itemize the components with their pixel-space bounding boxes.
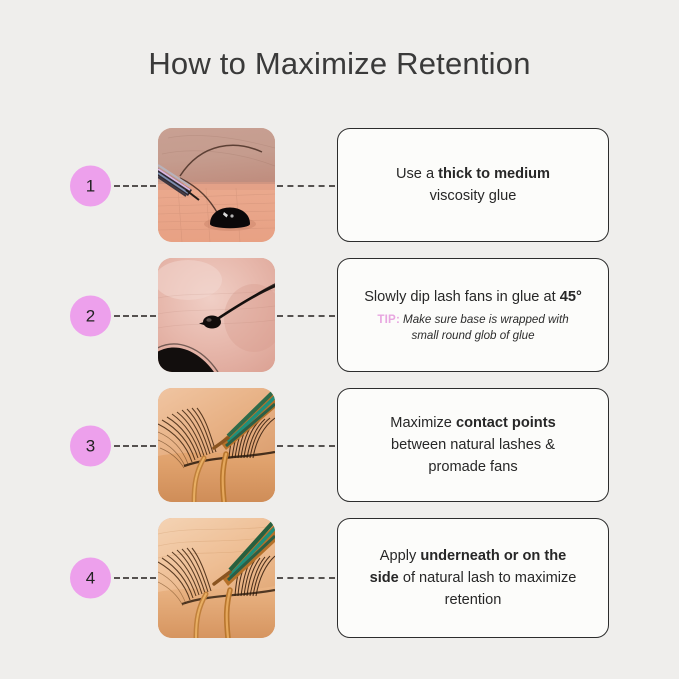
steps-list: 1 bbox=[0, 0, 679, 679]
card-text-plain: Use a bbox=[396, 166, 438, 182]
card-line: promade fans bbox=[428, 456, 517, 478]
card-text-bold: 45° bbox=[560, 289, 582, 305]
card-line: Use a thick to medium bbox=[396, 163, 550, 185]
card-text-plain: Maximize bbox=[390, 415, 456, 431]
step-photo bbox=[158, 388, 275, 502]
step-text-card: Use a thick to medium viscosity glue bbox=[337, 128, 609, 242]
step-photo bbox=[158, 518, 275, 638]
step-row: 4 bbox=[0, 518, 679, 638]
card-text-plain: viscosity glue bbox=[430, 188, 517, 204]
step-row: 2 bbox=[0, 258, 679, 373]
step-number-badge: 3 bbox=[70, 425, 111, 466]
lash-apply-underneath-photo-icon bbox=[158, 518, 275, 638]
lash-glue-drop-photo-icon bbox=[158, 128, 275, 242]
step-number-label: 4 bbox=[86, 570, 95, 587]
card-text-bold: contact points bbox=[456, 415, 556, 431]
connector-badge-to-photo bbox=[114, 577, 156, 579]
step-row: 3 bbox=[0, 388, 679, 503]
card-text-bold: underneath or on the bbox=[420, 548, 566, 564]
connector-badge-to-photo bbox=[114, 445, 156, 447]
connector-badge-to-photo bbox=[114, 315, 156, 317]
step-number-label: 2 bbox=[86, 307, 95, 324]
step-text-card: Apply underneath or on the side of natur… bbox=[337, 518, 609, 638]
card-text-bold: thick to medium bbox=[438, 166, 550, 182]
card-line: viscosity glue bbox=[430, 185, 517, 207]
tip-line: TIP:Make sure base is wrapped with bbox=[377, 312, 568, 328]
connector-photo-to-card bbox=[277, 445, 335, 447]
lash-fan-glue-dip-photo-icon bbox=[158, 258, 275, 372]
card-text-plain: of natural lash to maximize bbox=[399, 570, 577, 586]
connector-photo-to-card bbox=[277, 315, 335, 317]
step-text-card: Maximize contact points between natural … bbox=[337, 388, 609, 502]
card-text-plain: Apply bbox=[380, 548, 421, 564]
step-number-badge: 1 bbox=[70, 165, 111, 206]
step-number-badge: 2 bbox=[70, 295, 111, 336]
step-number-badge: 4 bbox=[70, 558, 111, 599]
lash-contact-points-photo-icon bbox=[158, 388, 275, 502]
connector-photo-to-card bbox=[277, 577, 335, 579]
tip-text: Make sure base is wrapped with bbox=[403, 313, 569, 326]
card-line: Maximize contact points bbox=[390, 412, 555, 434]
connector-photo-to-card bbox=[277, 185, 335, 187]
step-row: 1 bbox=[0, 128, 679, 243]
step-text-card: Slowly dip lash fans in glue at 45° TIP:… bbox=[337, 258, 609, 372]
card-line: Slowly dip lash fans in glue at 45° bbox=[364, 286, 582, 308]
tip-block: TIP:Make sure base is wrapped with small… bbox=[377, 312, 568, 344]
card-line: retention bbox=[445, 589, 502, 611]
step-number-label: 1 bbox=[86, 177, 95, 194]
card-line: Apply underneath or on the bbox=[380, 545, 567, 567]
tip-line: small round glob of glue bbox=[377, 328, 568, 344]
card-text-bold: side bbox=[370, 570, 399, 586]
connector-badge-to-photo bbox=[114, 185, 156, 187]
card-line: between natural lashes & bbox=[391, 434, 555, 456]
card-line: side of natural lash to maximize bbox=[370, 567, 577, 589]
card-text-plain: Slowly dip lash fans in glue at bbox=[364, 289, 560, 305]
step-photo bbox=[158, 128, 275, 242]
tip-label: TIP: bbox=[377, 313, 400, 326]
step-number-label: 3 bbox=[86, 437, 95, 454]
step-photo bbox=[158, 258, 275, 372]
